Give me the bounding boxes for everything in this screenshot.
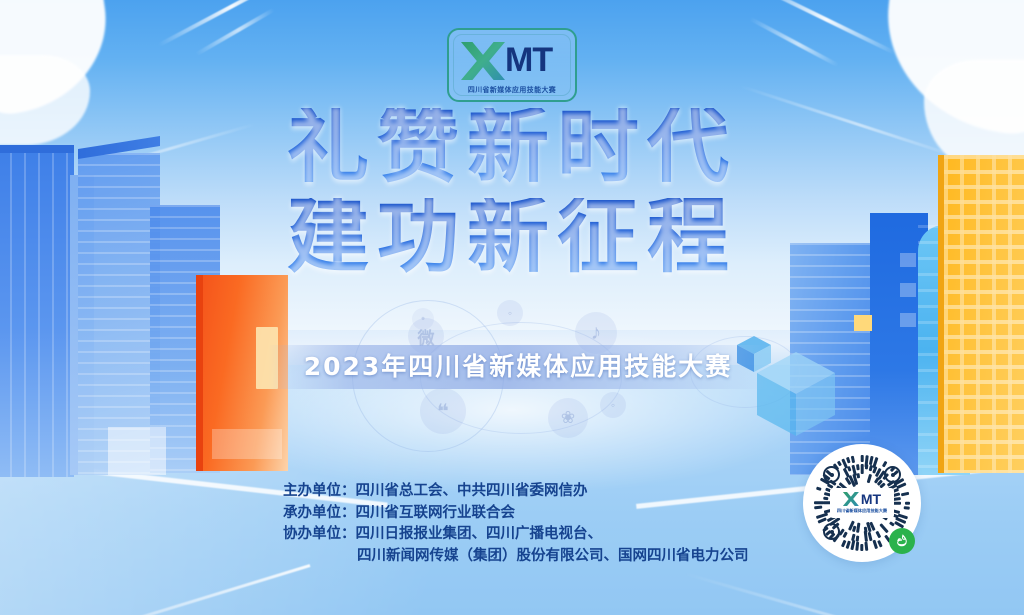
building-accent-square: [854, 315, 872, 331]
qr-logo-mt-text: MT: [861, 492, 881, 506]
dot-icon: •: [412, 308, 434, 330]
video-icon: ❀: [548, 398, 588, 438]
road-lane-marking: [684, 572, 1024, 615]
qr-dash: [880, 523, 889, 533]
qr-finder-icon: [823, 466, 840, 483]
badge-glyph: එ: [897, 534, 907, 549]
qr-logo-subtitle: 四川省新媒体应用技能大赛: [837, 508, 887, 514]
headline-block: 礼赞新时代 建功新征程: [0, 108, 1024, 276]
qr-dash: [816, 487, 822, 491]
wechat-miniprogram-badge-icon: එ: [889, 528, 915, 554]
credit-label: 协办单位：: [283, 524, 356, 546]
qr-dash: [865, 464, 868, 469]
subtitle-band: 2023年四川省新媒体应用技能大赛: [268, 345, 768, 389]
qr-dash: [846, 457, 850, 464]
wechat-icon: ❝: [420, 388, 466, 434]
qr-dash: [843, 532, 848, 538]
qr-dash: [882, 461, 887, 468]
qr-dash: [856, 522, 860, 533]
credit-label: 承办单位：: [283, 503, 356, 525]
qr-dash: [904, 506, 910, 509]
qr-dash: [877, 540, 882, 548]
credit-value: 四川省互联网行业联合会: [356, 503, 516, 525]
qr-dash: [856, 541, 860, 550]
qr-dash: [856, 464, 859, 471]
road-lane-marking: [0, 564, 310, 615]
dot-icon: ◦: [497, 300, 523, 326]
qr-dash: [900, 492, 909, 496]
building-window-band: [212, 429, 282, 459]
organizer-credits: 主办单位： 四川省总工会、中共四川省委网信办 承办单位： 四川省互联网行业联合会…: [283, 481, 749, 567]
dot-icon: ◦: [600, 392, 626, 418]
qr-finder-icon: [884, 466, 901, 483]
qr-dash: [818, 518, 827, 524]
qr-dash: [905, 502, 910, 505]
qr-dash: [876, 531, 882, 538]
cloud-streak: [749, 17, 839, 67]
credit-row: 协办单位： 四川日报报业集团、四川广播电视台、: [283, 524, 749, 546]
qr-logo-x-icon: [843, 492, 859, 506]
credit-value: 四川省总工会、中共四川省委网信办: [356, 481, 588, 503]
logo-subtitle: 四川省新媒体应用技能大赛: [452, 84, 572, 94]
qr-dash: [837, 461, 842, 467]
logo-mt-text: MT: [505, 41, 552, 79]
qr-dash: [868, 531, 873, 541]
credit-row: 承办单位： 四川省互联网行业联合会: [283, 503, 749, 525]
qr-dash: [867, 474, 872, 483]
qr-dash: [823, 497, 829, 500]
credit-value: 四川日报报业集团、四川广播电视台、: [356, 524, 603, 546]
headline-line-1: 礼赞新时代: [0, 108, 1024, 186]
qr-dash: [861, 544, 864, 551]
qr-dash: [893, 502, 901, 505]
qr-finder-icon: [823, 523, 840, 540]
event-logo: MT 四川省新媒体应用技能大赛: [447, 28, 577, 102]
headline-line-2: 建功新征程: [0, 198, 1024, 276]
building-left-base-window: [108, 427, 166, 475]
building-left-orange-edge: [196, 275, 203, 471]
qr-code[interactable]: MT 四川省新媒体应用技能大赛 එ: [803, 444, 921, 562]
qr-dash: [851, 540, 856, 550]
qr-dash: [856, 473, 859, 479]
qr-dash: [861, 464, 864, 474]
qr-dash: [861, 455, 864, 462]
qr-dash: [851, 456, 855, 463]
qr-center-logo: MT 四川省新媒体应用技能大赛: [830, 488, 894, 518]
subtitle-text: 2023年四川省新媒体应用技能大赛: [268, 345, 768, 389]
cloud-streak: [195, 8, 275, 56]
promotional-poster: 微 ♪ • ❝ ❀ ◦ ◦ MT 四川省新媒体应用技能大赛 礼赞新时代 建功新征…: [0, 0, 1024, 615]
credit-continuation: 四川新闻网传媒（集团）股份有限公司、国网四川省电力公司: [283, 546, 749, 568]
qr-dash: [847, 466, 851, 472]
cube-decoration-large: [757, 352, 835, 441]
credit-row: 主办单位： 四川省总工会、中共四川省委网信办: [283, 481, 749, 503]
qr-dash: [814, 506, 822, 509]
credit-label: 主办单位：: [283, 481, 356, 503]
qr-dash: [856, 536, 859, 542]
qr-dash: [865, 542, 869, 551]
